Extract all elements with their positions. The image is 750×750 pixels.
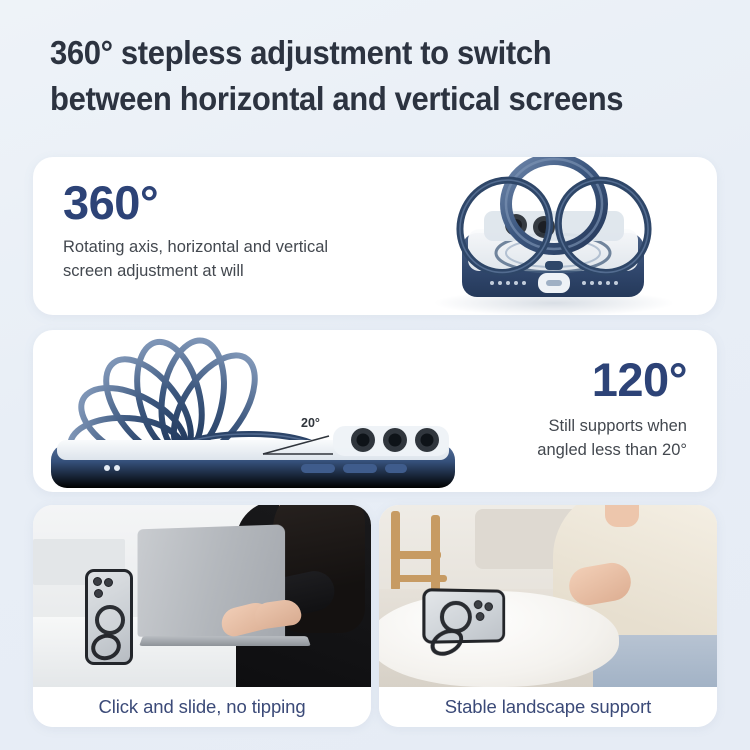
laptop-base xyxy=(139,636,311,646)
product-image-rotating-ring-stand xyxy=(388,157,717,315)
phone-upright-on-stand xyxy=(85,569,133,665)
usecase-caption-bar-desk: Click and slide, no tipping xyxy=(33,687,371,727)
usecase-card-landscape: Stable landscape support xyxy=(379,505,717,727)
magsafe-ring xyxy=(95,605,125,635)
camera-lens xyxy=(474,600,483,609)
usecase-photo-desk xyxy=(33,505,371,687)
usecase-caption-landscape: Stable landscape support xyxy=(445,696,651,718)
camera-lens xyxy=(93,577,102,586)
page-title: 360° stepless adjustment to switch betwe… xyxy=(50,30,670,122)
scene-office xyxy=(33,505,371,687)
feature-text-rotation: 360° Rotating axis, horizontal and verti… xyxy=(63,179,328,284)
page-title-line-1: 360° stepless adjustment to switch xyxy=(50,30,670,76)
product-illustration-120-svg xyxy=(33,330,463,492)
feature-desc-rotation-line-1: Rotating axis, horizontal and vertical xyxy=(63,236,328,260)
feature-desc-rotation-line-2: screen adjustment at will xyxy=(63,260,328,284)
feature-text-support-angle: 120° Still supports when angled less tha… xyxy=(537,356,687,463)
camera-lens xyxy=(104,578,113,587)
kickstand-ring xyxy=(88,630,125,664)
camera-lens xyxy=(476,612,485,621)
camera-bump xyxy=(333,426,449,456)
scene-living-room xyxy=(379,505,717,687)
phone-camera-cluster xyxy=(474,600,497,624)
feature-card-support-angle: 20° 120° Still supports when angled less… xyxy=(33,330,717,492)
person-neck xyxy=(605,505,639,527)
feature-value-360: 360° xyxy=(63,179,328,226)
page-title-line-2: between horizontal and vertical screens xyxy=(50,76,670,122)
feature-card-rotation: 360° Rotating axis, horizontal and verti… xyxy=(33,157,717,315)
usecase-photo-landscape xyxy=(379,505,717,687)
usecase-caption-desk: Click and slide, no tipping xyxy=(98,696,305,718)
phone-landscape-on-stand xyxy=(422,588,505,644)
camera-lens xyxy=(484,602,493,611)
usecase-card-desk: Click and slide, no tipping xyxy=(33,505,371,727)
usecase-caption-bar-landscape: Stable landscape support xyxy=(379,687,717,727)
feature-value-120: 120° xyxy=(537,356,687,403)
phone-camera-cluster xyxy=(93,577,114,598)
product-image-fanned-ring-positions xyxy=(33,330,463,492)
product-illustration-360-svg xyxy=(388,157,717,315)
wooden-chair xyxy=(387,511,461,593)
feature-desc-support-line-1: Still supports when xyxy=(537,415,687,439)
camera-lens xyxy=(94,589,103,598)
feature-desc-support-line-2: angled less than 20° xyxy=(537,439,687,463)
angle-label-20: 20° xyxy=(301,416,320,430)
